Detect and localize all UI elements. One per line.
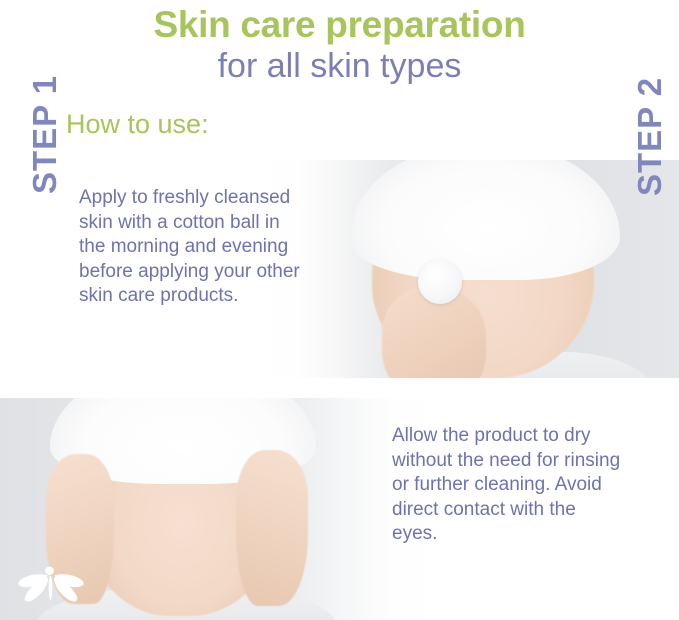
- step-1-label: STEP 1: [26, 75, 64, 194]
- butterfly-leaf-logo-icon: [18, 556, 84, 610]
- photo-cotton-pad: [418, 260, 462, 304]
- step-2-label: STEP 2: [631, 77, 669, 196]
- how-to-use-heading: How to use:: [0, 108, 679, 140]
- step-1-instruction-text: Apply to freshly cleansed skin with a co…: [79, 186, 307, 309]
- step-1-panel: Apply to freshly cleansed skin with a co…: [0, 160, 679, 378]
- page-title-line1: Skin care preparation: [0, 4, 679, 46]
- step-2-panel: Allow the product to dry without the nee…: [0, 398, 679, 620]
- page-title-line2: for all skin types: [0, 46, 679, 86]
- photo-head-towel: [352, 160, 620, 280]
- header: Skin care preparation for all skin types…: [0, 0, 679, 140]
- step-2-instruction-text: Allow the product to dry without the nee…: [392, 424, 622, 547]
- photo-hand-right: [236, 450, 308, 606]
